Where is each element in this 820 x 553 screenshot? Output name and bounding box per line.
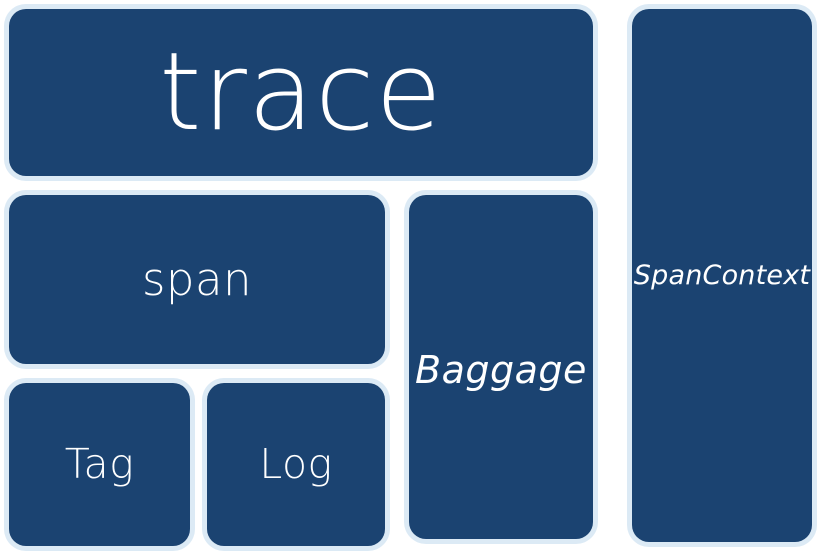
block-span[interactable]: span [4, 190, 390, 369]
block-span-label: span [142, 257, 252, 302]
block-spancontext-label: SpanContext [634, 262, 810, 289]
block-trace-label: trace [159, 39, 443, 147]
diagram-canvas: trace span Tag Log Baggage SpanContext [0, 0, 820, 553]
block-tag[interactable]: Tag [4, 378, 195, 551]
block-trace-body: trace [9, 9, 593, 176]
block-log-label: Log [259, 444, 332, 485]
block-baggage-label: Baggage [409, 351, 593, 389]
block-tag-label: Tag [65, 444, 135, 485]
block-spancontext-body: SpanContext [632, 9, 812, 542]
block-trace[interactable]: trace [4, 4, 598, 181]
block-baggage-body: Baggage [409, 195, 593, 539]
block-log-body: Log [207, 383, 385, 546]
block-log[interactable]: Log [202, 378, 390, 551]
block-baggage[interactable]: Baggage [404, 190, 598, 544]
block-spancontext[interactable]: SpanContext [627, 4, 817, 547]
block-tag-body: Tag [9, 383, 190, 546]
block-span-body: span [9, 195, 385, 364]
